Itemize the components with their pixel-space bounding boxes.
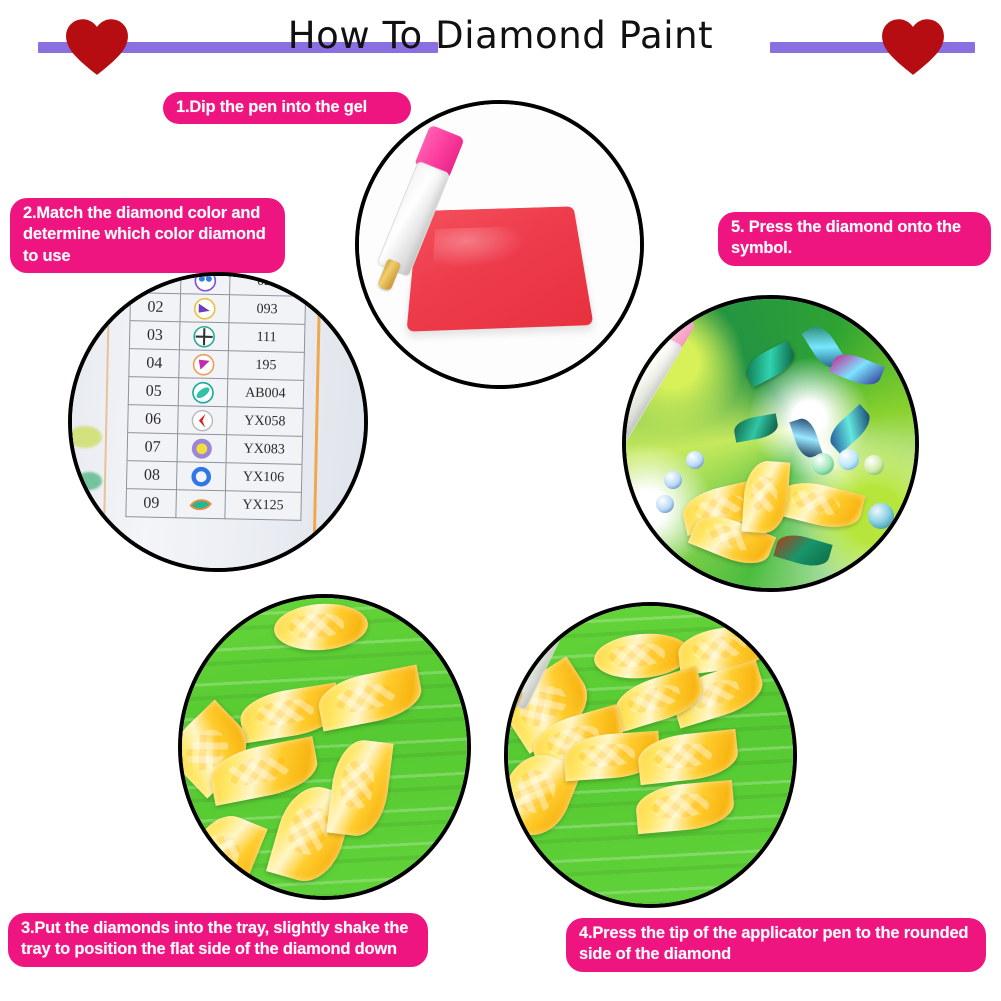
chart-cell-no: 08 [126, 461, 177, 490]
color-chart-row: 08YX106 [126, 461, 302, 493]
teal-leaf-orange-outline-icon [176, 490, 225, 519]
color-chart-row: 07YX083 [127, 433, 303, 465]
color-chart-row: 05AB004 [128, 377, 304, 409]
red-chevron-circle-icon [178, 406, 227, 435]
photo-pen-dipping-into-gel [355, 100, 644, 389]
chart-cell-code: 093 [229, 295, 306, 325]
photo-placing-diamond-on-canvas [622, 295, 919, 592]
step-5-label: 5. Press the diamond onto the symbol. [718, 212, 991, 266]
gel-wax-pad [406, 206, 593, 331]
blue-double-dot-circle-icon [181, 276, 230, 295]
teal-plus-circle-icon [180, 322, 229, 351]
header: How To Diamond Paint [0, 0, 1001, 88]
color-chart-row: 04195 [129, 349, 305, 381]
chart-cell-code: YX125 [225, 491, 302, 521]
step-4-label: 4.Press the tip of the applicator pen to… [566, 918, 986, 972]
chart-cell-no: 09 [126, 489, 177, 518]
chart-cell-code: YX083 [226, 435, 303, 465]
teal-oval-circle-icon [179, 378, 228, 407]
photo-pen-picking-up-diamond [504, 602, 797, 908]
yellow-dot-purple-ring-icon [177, 434, 226, 463]
purple-triangle-yellow-ring-icon [180, 294, 229, 323]
photo-diamonds-in-green-tray [178, 594, 471, 900]
step-3-label: 3.Put the diamonds into the tray, slight… [8, 913, 428, 967]
chart-cell-no [131, 276, 182, 294]
chart-cell-code: YX058 [226, 407, 303, 437]
chart-cell-no: 02 [130, 293, 181, 322]
color-chart-table: 02802093031110419505AB00406YX05807YX0830… [125, 276, 306, 521]
color-chart-row: 06YX058 [128, 405, 304, 437]
color-chart-row: 09YX125 [126, 489, 302, 521]
blue-open-ring-icon [177, 462, 226, 491]
chart-cell-no: 07 [127, 433, 178, 462]
chart-cell-code: 028 [229, 276, 306, 296]
magenta-triangle-orange-ring-icon [179, 350, 228, 379]
chart-cell-no: 04 [129, 349, 180, 378]
chart-cell-no: 05 [128, 377, 179, 406]
infographic-canvas: How To Diamond Paint 1.Dip the pen into … [0, 0, 1001, 1001]
photo-color-chart-legend: 02802093031110419505AB00406YX05807YX0830… [68, 272, 368, 572]
chart-cell-no: 06 [128, 405, 179, 434]
step-2-label: 2.Match the diamond color and determine … [10, 198, 285, 273]
chart-cell-code: 195 [228, 351, 305, 381]
chart-cell-code: AB004 [227, 379, 304, 409]
page-title: How To Diamond Paint [0, 14, 1001, 57]
chart-cell-code: YX106 [225, 463, 302, 493]
chart-cell-code: 111 [228, 323, 305, 353]
color-chart-row: 03111 [129, 321, 305, 353]
chart-cell-no: 03 [129, 321, 180, 350]
color-chart-row: 02093 [130, 293, 306, 325]
